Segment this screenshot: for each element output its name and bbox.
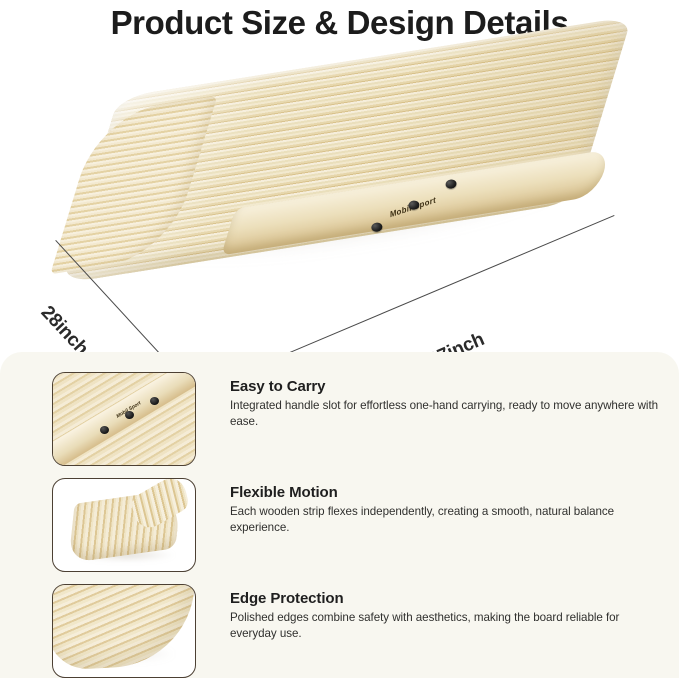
feature-description: Each wooden strip flexes independently, … bbox=[230, 504, 660, 536]
features-panel: Mobil Sport Easy to Carry Integrated han… bbox=[0, 352, 679, 678]
feature-text-block: Flexible Motion Each wooden strip flexes… bbox=[230, 484, 660, 536]
feature-row-flexible-motion: Flexible Motion Each wooden strip flexes… bbox=[52, 478, 652, 570]
feature-row-edge-protection: Edge Protection Polished edges combine s… bbox=[52, 584, 652, 676]
rubber-foot-icon bbox=[100, 426, 109, 434]
rubber-foot-icon bbox=[125, 411, 134, 419]
feature-row-easy-to-carry: Mobil Sport Easy to Carry Integrated han… bbox=[52, 372, 652, 464]
feature-thumbnail-edge-protection bbox=[52, 584, 196, 678]
feature-description: Polished edges combine safety with aesth… bbox=[230, 610, 660, 642]
feature-heading: Flexible Motion bbox=[230, 484, 660, 501]
feature-thumbnail-flexible-motion bbox=[52, 478, 196, 572]
product-hero-image: Mobil Sport 28inch 67inch bbox=[0, 52, 679, 352]
feature-description: Integrated handle slot for effortless on… bbox=[230, 398, 660, 430]
balance-board-illustration: Mobil Sport bbox=[76, 23, 627, 341]
feature-heading: Easy to Carry bbox=[230, 378, 660, 395]
feature-text-block: Easy to Carry Integrated handle slot for… bbox=[230, 378, 660, 430]
feature-text-block: Edge Protection Polished edges combine s… bbox=[230, 590, 660, 642]
feature-heading: Edge Protection bbox=[230, 590, 660, 607]
feature-thumbnail-easy-to-carry: Mobil Sport bbox=[52, 372, 196, 466]
rubber-foot-icon bbox=[150, 397, 159, 405]
